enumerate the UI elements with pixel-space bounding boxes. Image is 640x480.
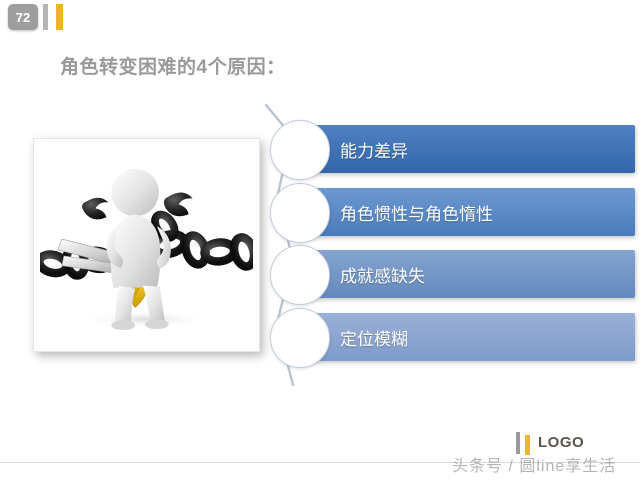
photo-frame [33, 138, 260, 352]
reason-label-3: 成就感缺失 [340, 250, 425, 298]
reason-circle-1 [270, 120, 330, 180]
page-title: 角色转变困难的4个原因： [60, 52, 286, 79]
reason-circle-4 [270, 308, 330, 368]
chain-cut-illustration [40, 145, 253, 345]
slide-canvas: 72 角色转变困难的4个原因： [0, 0, 640, 480]
page-number-badge: 72 [8, 4, 38, 30]
reason-label-4: 定位模糊 [340, 313, 408, 361]
reason-circle-2 [270, 183, 330, 243]
logo-accent-gray [516, 432, 520, 454]
reason-label-2: 角色惯性与角色惰性 [340, 188, 493, 236]
watermark: 头条号 / 圆line享生活 [452, 452, 616, 476]
accent-bar-yellow [56, 4, 63, 30]
accent-bar-gray [43, 4, 48, 30]
reason-label-1: 能力差异 [340, 125, 408, 173]
reason-circle-3 [270, 245, 330, 305]
logo-text: LOGO [538, 434, 584, 451]
photo-image [40, 145, 253, 345]
